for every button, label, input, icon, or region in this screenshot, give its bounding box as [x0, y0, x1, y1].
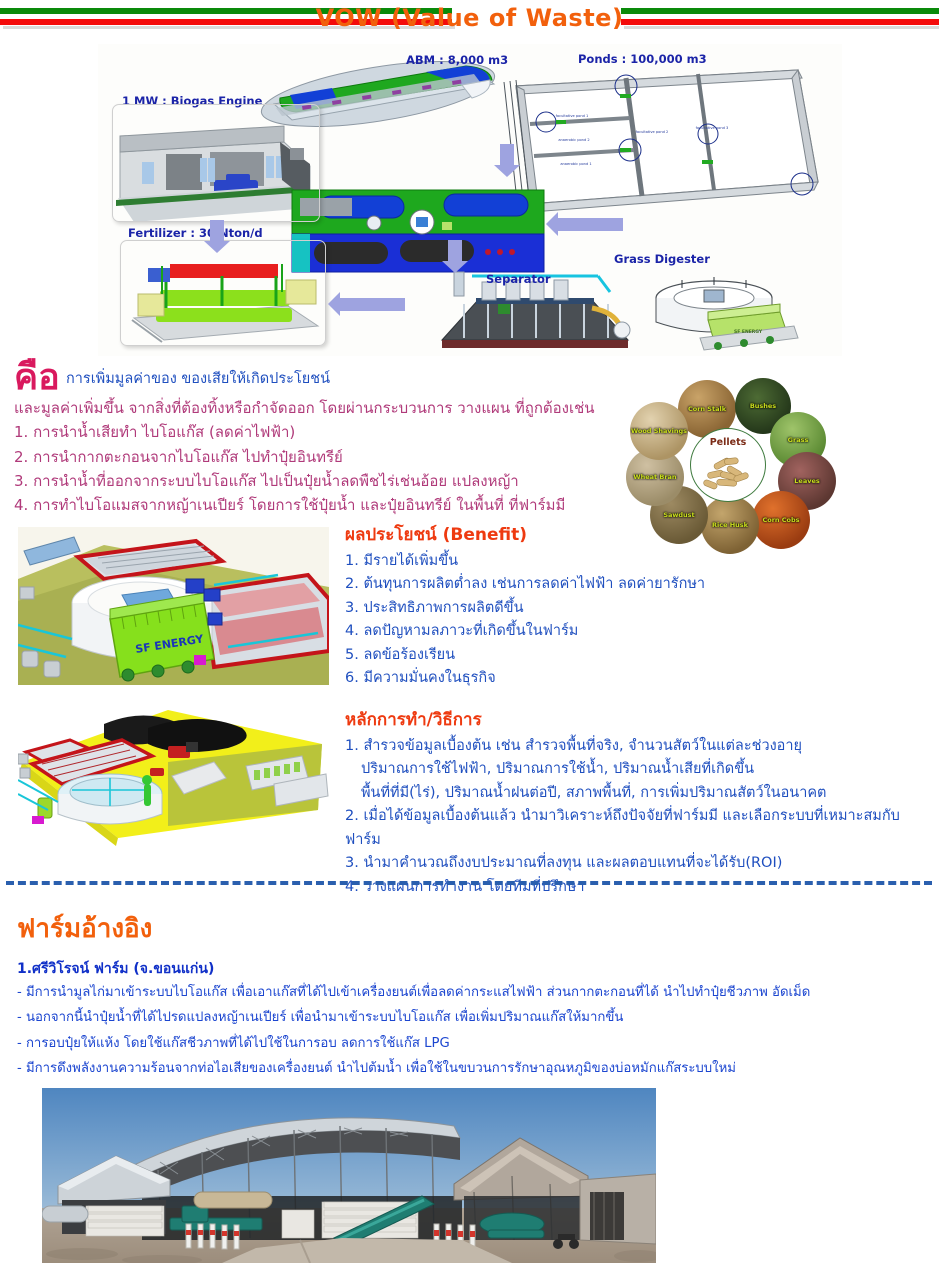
page-title: VOW (Value of Waste) [0, 4, 939, 32]
reference-farm-bullet-1: - มีการนำมูลไก่มาเข้าระบบไบโอแก๊ส เพื่อเ… [17, 980, 917, 1005]
method-item-3: 3. นำมาคำนวณถึงงบประมาณที่ลงทุน และผลตอบ… [345, 852, 935, 875]
definition-item-3: 3. การนำน้ำที่ออกจากระบบไบโอแก๊ส ไปเป็นป… [14, 469, 634, 493]
svg-text:SF ENERGY: SF ENERGY [734, 329, 763, 335]
arrow-down-separator [442, 240, 468, 274]
arrow-down-engine [204, 220, 230, 254]
pellets-center-circle: Pellets [690, 428, 766, 502]
pond-cell-label-facultative-1: facultative pond 1 [552, 114, 592, 118]
definition-body: และมูลค่าเพิ่มขึ้น จากสิ่งที่ต้องทิ้งหรื… [14, 396, 634, 517]
diagram-label-fertilizer: Fertilizer : 30 Nton/d [128, 226, 263, 240]
reference-farm-bullets: - มีการนำมูลไก่มาเข้าระบบไบโอแก๊ส เพื่อเ… [17, 980, 917, 1081]
section-divider [6, 881, 932, 885]
reference-farm-subheading: 1.ศรีวิโรจน์ ฟาร์ม (จ.ขอนแก่น) [17, 958, 214, 980]
sf-energy-plant-illustration: SF ENERGY [18, 527, 329, 685]
method-item-4: 4. วางแผนการทำงาน โดยทีมที่ปรึกษา [345, 876, 935, 899]
covered-lagoon-illustration [18, 706, 329, 856]
definition-item-4: 4. การทำไบโอแมสจากหญ้าเนเปียร์ โดยการใช้… [14, 493, 634, 517]
method-item-1-sub-a: ปริมาณการใช้ไฟฟ้า, ปริมาณการใช้น้ำ, ปริม… [345, 758, 935, 781]
reference-farm-photo-illustration [42, 1088, 656, 1263]
benefit-heading: ผลประโยชน์ (Benefit) [345, 521, 925, 548]
pellet-label-wheat-bran: Wheat Bran [633, 474, 676, 481]
method-item-1-sub-b: พื้นที่ที่มี(ไร่), ปริมาณน้ำฝนต่อปี, สภา… [345, 782, 935, 805]
arrow-down-abm [494, 144, 520, 178]
benefit-item-4: 4. ลดปัญหามลภาวะที่เกิดขึ้นในฟาร์ม [345, 620, 925, 643]
definition-item-2: 2. การนำกากตะกอนจากไบโอแก๊ส ไปทำปุ๋ยอินท… [14, 445, 634, 469]
reference-farm-photo [42, 1088, 656, 1263]
benefit-item-3: 3. ประสิทธิภาพการผลิตดีขึ้น [345, 597, 925, 620]
pellet-label-leaves: Leaves [794, 478, 819, 485]
method-heading: หลักการทำ/วิธีการ [345, 706, 935, 733]
diagram-label-ponds: Ponds : 100,000 m3 [578, 52, 707, 66]
pond-cell-label-facultative-2: facultative pond 2 [632, 130, 672, 134]
method-item-2: 2. เมื่อได้ข้อมูลเบื้องต้นแล้ว นำมาวิเคร… [345, 805, 935, 852]
pellet-label-sawdust: Sawdust [663, 512, 694, 519]
benefit-list: 1. มีรายได้เพิ่มขึ้น 2. ต้นทุนการผลิตต่ำ… [345, 550, 925, 691]
pellets-illustration [691, 429, 765, 501]
reference-farm-bullet-4: - มีการดึงพลังงานความร้อนจากท่อไอเสียของ… [17, 1056, 917, 1081]
reference-farm-bullet-2: - นอกจากนี้นำปุ๋ยน้ำที่ได้ไปรดแปลงหญ้าเน… [17, 1005, 917, 1030]
benefit-section: ผลประโยชน์ (Benefit) 1. มีรายได้เพิ่มขึ้… [345, 521, 925, 691]
process-flow-diagram: SF ENERGY [98, 44, 842, 356]
pellet-label-grass: Grass [788, 437, 809, 444]
reference-farm-heading: ฟาร์มอ้างอิง [17, 908, 152, 949]
diagram-label-abm: ABM : 8,000 m3 [406, 53, 508, 67]
method-section: หลักการทำ/วิธีการ 1. สำรวจข้อมูลเบื้องต้… [345, 706, 935, 899]
benefit-item-2: 2. ต้นทุนการผลิตต่ำลง เช่นการลดค่าไฟฟ้า … [345, 573, 925, 596]
method-list: 1. สำรวจข้อมูลเบื้องต้น เช่น สำรวจพื้นที… [345, 735, 935, 899]
diagram-label-separator: Separator [486, 272, 551, 286]
pond-cell-label-anaerobic-1: anaerobic pond 1 [556, 162, 596, 166]
definition-line-2: และมูลค่าเพิ่มขึ้น จากสิ่งที่ต้องทิ้งหรื… [14, 396, 634, 420]
reference-farm-bullet-3: - การอบปุ๋ยให้แห้ง โดยใช้แก๊สชีวภาพที่ได… [17, 1031, 917, 1056]
pond-cell-label-anaerobic-2: anaerobic pond 2 [554, 138, 594, 142]
pellet-label-bushes: Bushes [750, 403, 776, 410]
benefit-item-6: 6. มีความมั่นคงในธุรกิจ [345, 667, 925, 690]
page-header: VOW (Value of Waste) [0, 0, 939, 40]
pellet-material-wood-shavings: Wood Shavings [630, 402, 688, 460]
method-item-1: 1. สำรวจข้อมูลเบื้องต้น เช่น สำรวจพื้นที… [345, 735, 935, 758]
diagram-label-grass-digester: Grass Digester [614, 252, 710, 266]
sf-energy-plant-image: SF ENERGY [18, 527, 329, 685]
definition-lead-line: การเพิ่มมูลค่าของ ของเสียให้เกิดประโยชน์ [66, 372, 626, 387]
fertilizer-panel-frame [120, 240, 326, 346]
pellet-label-wood-shavings: Wood Shavings [631, 428, 687, 435]
benefit-item-1: 1. มีรายได้เพิ่มขึ้น [345, 550, 925, 573]
biogas-engine-panel-frame [112, 104, 320, 222]
covered-lagoon-plant-image [18, 706, 329, 856]
arrow-left-to-fertilizer [328, 292, 406, 317]
pond-cell-label-facultative-3: facultative pond 3 [692, 126, 732, 130]
benefit-item-5: 5. ลดข้อร้องเรียน [345, 644, 925, 667]
pellet-label-corn-stalk: Corn Stalk [688, 406, 726, 413]
arrow-left-to-plant [546, 212, 624, 237]
definition-heading: คือ [14, 360, 60, 396]
definition-item-1: 1. การนำน้ำเสียทำ ไบโอแก๊ส (ลดค่าไฟฟ้า) [14, 420, 634, 444]
